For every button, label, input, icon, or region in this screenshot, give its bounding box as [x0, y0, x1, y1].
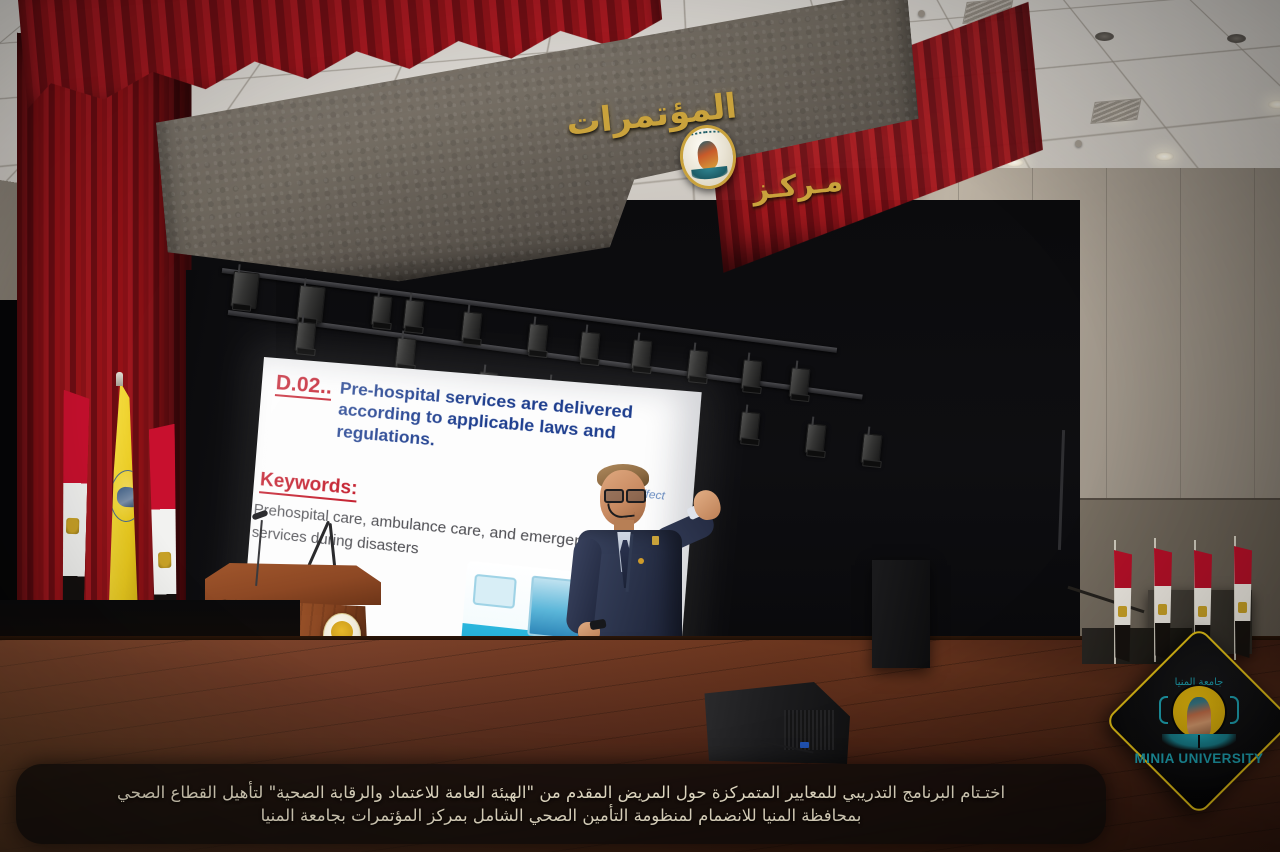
stage-light-fixture	[860, 433, 882, 465]
stage-light-fixture	[394, 337, 416, 369]
caption-line-2: بمحافظة المنيا للانضمام لمنظومة التأمين …	[261, 806, 862, 825]
logo-gold-circle	[1173, 686, 1225, 738]
egypt-flag	[1234, 546, 1252, 658]
slide-title: Pre-hospital services are delivered acco…	[336, 377, 688, 472]
speaker-plug	[800, 742, 809, 748]
caption-bar: اختـتام البرنامج التدريبي للمعايير المتم…	[16, 764, 1106, 844]
lapel-badge	[652, 536, 659, 545]
stage-light-fixture	[230, 271, 260, 310]
stage-light-fixture	[686, 349, 708, 381]
ceiling-downlight-off	[1227, 34, 1246, 43]
stage-light-fixture	[738, 411, 760, 443]
stage-light-fixture	[460, 311, 482, 343]
nefertiti-icon	[696, 140, 719, 170]
stage-light-fixture	[804, 423, 826, 455]
conference-hall-photo: المؤتمرات مـركـز D.02.. Pre-hospital ser…	[0, 0, 1280, 852]
lectern-top	[205, 563, 381, 605]
slide-code: D.02..	[275, 372, 333, 401]
egypt-flag	[1114, 550, 1132, 662]
open-book-icon	[691, 166, 728, 181]
stage-light-fixture	[294, 321, 316, 353]
stage-light-fixture	[402, 299, 424, 331]
ceiling-sprinkler	[918, 10, 925, 17]
stage-light-fixture	[740, 359, 762, 391]
ceiling-downlight-off	[1095, 32, 1114, 41]
ceiling-downlight	[1155, 152, 1174, 161]
stage-light-fixture	[630, 339, 652, 371]
nefertiti-bust-icon	[1187, 697, 1211, 739]
logo-right-bracket-icon	[1230, 696, 1239, 724]
stage-light-fixture	[370, 295, 392, 327]
university-flag-emblem	[109, 469, 146, 523]
logo-left-bracket-icon	[1159, 696, 1168, 724]
stage-light-fixture	[578, 331, 600, 363]
logo-english-name: MINIA UNIVERSITY	[1135, 751, 1264, 766]
open-book-icon	[1162, 734, 1236, 750]
stage-light-fixture	[296, 285, 326, 324]
speaker-grille	[784, 710, 836, 750]
presenter-lapel-pin	[638, 558, 644, 564]
slide-keywords-label: Keywords:	[259, 469, 358, 502]
stage-light-fixture	[526, 323, 548, 355]
side-speaker-stack	[872, 560, 930, 668]
ceiling-sprinkler	[1075, 140, 1082, 147]
eyeglasses-icon	[604, 489, 646, 499]
ceiling-downlight	[1268, 100, 1280, 109]
ceiling-air-vent	[1090, 98, 1141, 124]
flag-pole-finial	[116, 372, 123, 386]
stage-light-fixture	[788, 367, 810, 399]
caption-line-1: اختـتام البرنامج التدريبي للمعايير المتم…	[117, 783, 1005, 802]
ambulance-window	[472, 574, 516, 609]
egypt-flag	[1154, 548, 1172, 660]
logo-content: جامعة المنيا MINIA UNIVERSITY	[1134, 656, 1264, 786]
